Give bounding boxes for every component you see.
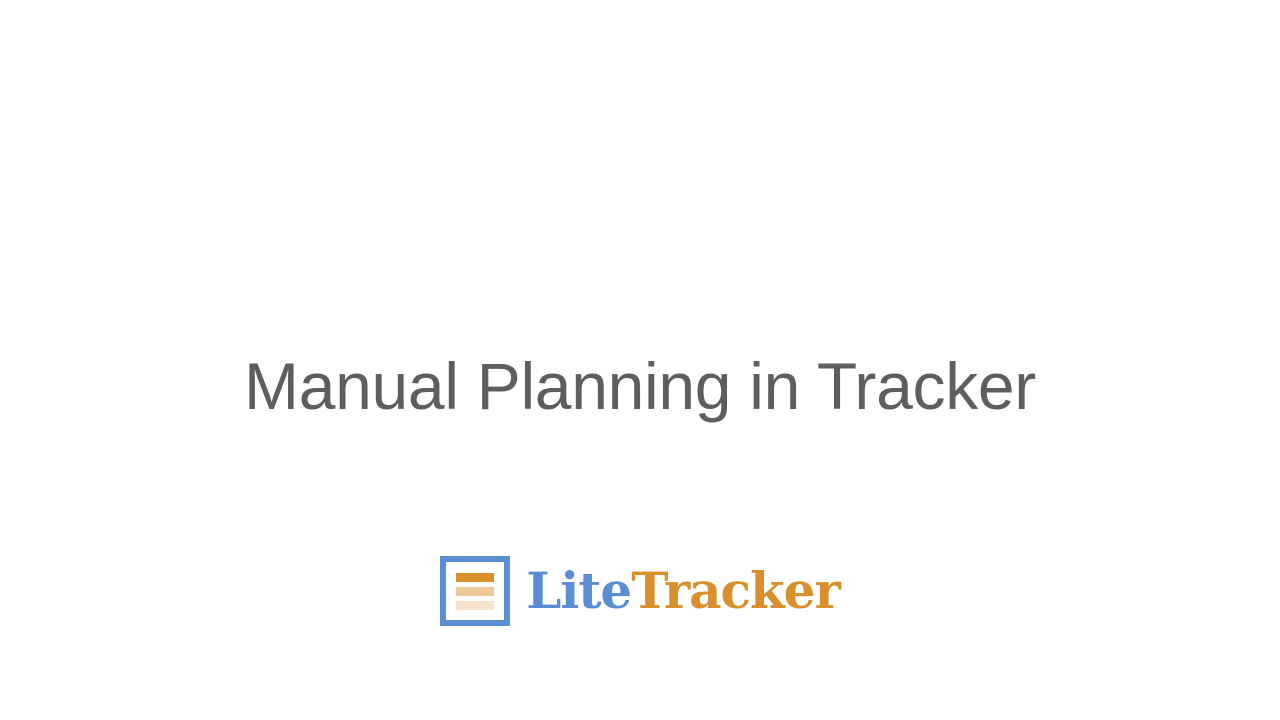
page-title: Manual Planning in Tracker	[0, 348, 1280, 425]
logo-bar-1	[456, 573, 494, 582]
wordmark-lite: Lite	[526, 566, 631, 616]
logo-bar-3	[456, 601, 494, 610]
logo-bar-2	[456, 587, 494, 596]
title-slide: Manual Planning in Tracker LiteTracker	[0, 0, 1280, 720]
brand-wordmark: LiteTracker	[526, 566, 840, 616]
document-lines-icon	[440, 556, 510, 626]
wordmark-tracker: Tracker	[631, 566, 840, 616]
brand-logo: LiteTracker	[0, 556, 1280, 626]
